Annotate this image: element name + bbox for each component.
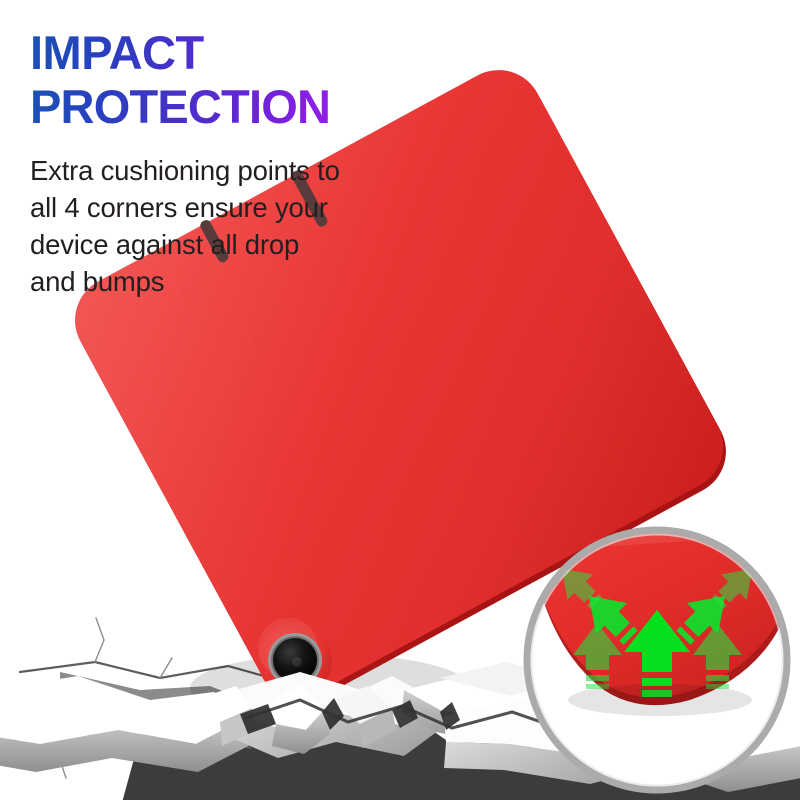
corner-cushion-zoom-inset [0,0,800,800]
product-marketing-banner: IMPACT PROTECTION Extra cushioning point… [0,0,800,800]
